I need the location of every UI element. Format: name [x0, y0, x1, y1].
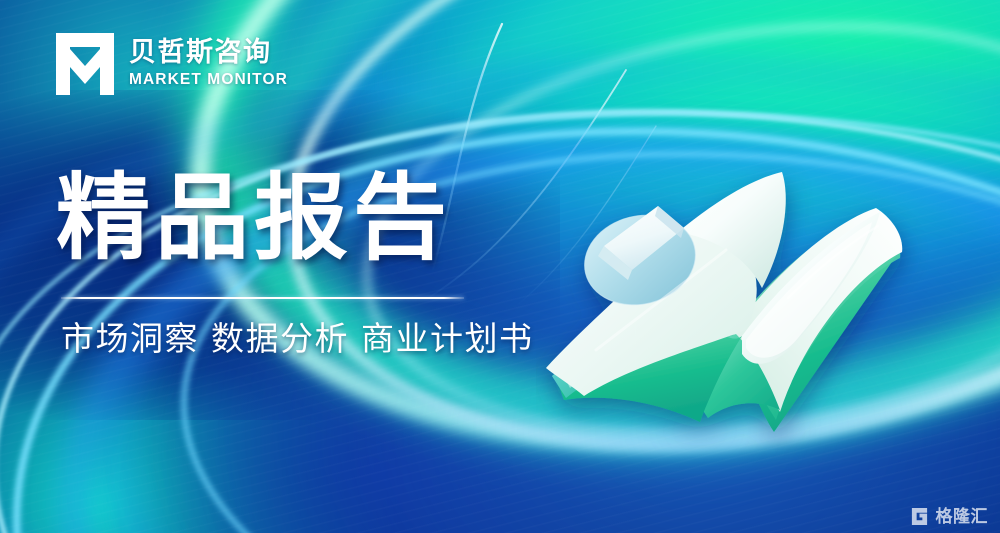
company-name-en: MARKET MONITOR [129, 70, 288, 90]
watermark-text: 格隆汇 [936, 508, 989, 525]
report-promo-banner: 贝哲斯咨询 MARKET MONITOR 精品报告 市场洞察 数据分析 商业计划… [0, 0, 1000, 533]
company-name-cn: 贝哲斯咨询 [129, 38, 288, 67]
watermark: 格隆汇 [910, 507, 989, 526]
brand-logo-lockup: 贝哲斯咨询 MARKET MONITOR [56, 33, 288, 95]
headline-block: 精品报告 市场洞察 数据分析 商业计划书 [56, 172, 533, 358]
brand-logo-text: 贝哲斯咨询 MARKET MONITOR [129, 38, 288, 90]
market-monitor-m-mark-icon [56, 33, 114, 95]
headline-subtitle: 市场洞察 数据分析 商业计划书 [61, 320, 533, 358]
gelonghui-g-mark-icon [910, 507, 929, 526]
headline-title: 精品报告 [56, 172, 533, 266]
headline-divider [61, 297, 464, 299]
